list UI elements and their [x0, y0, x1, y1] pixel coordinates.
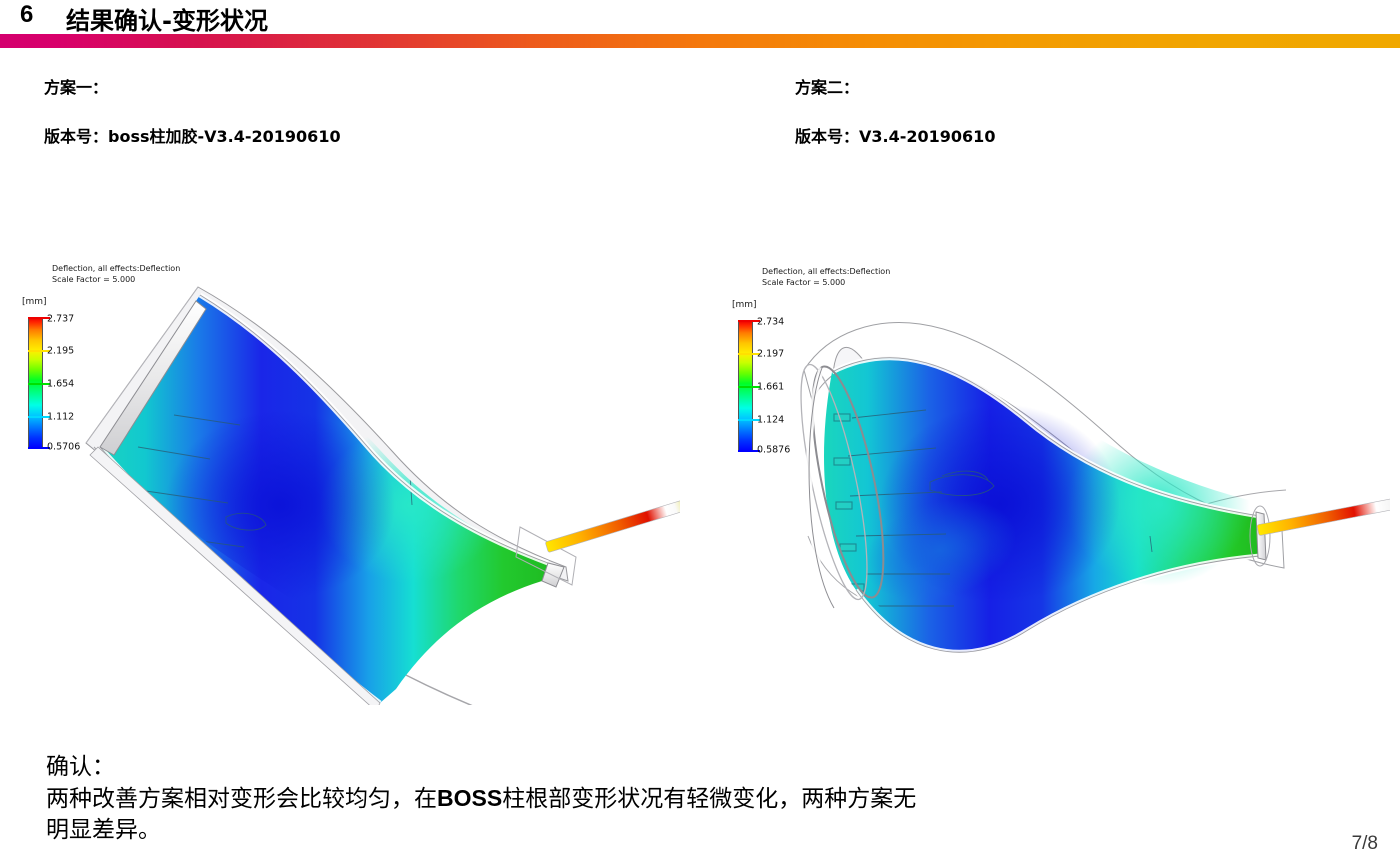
conclusion-line-1: 两种改善方案相对变形会比较均匀，在BOSS柱根部变形状况有轻微变化，两种方案无: [46, 783, 1346, 815]
header-gradient-rule: [0, 34, 1400, 48]
conclusion-line-1-part-a: 两种改善方案相对变形会比较均匀，在: [46, 786, 437, 812]
plan-two-tick-label-0: 2.734: [757, 317, 784, 328]
conclusion-line-2: 明显差异。: [46, 815, 1346, 846]
slide-header: 6 结果确认-变形状况: [0, 0, 1400, 34]
page-title: 结果确认-变形状况: [66, 1, 268, 36]
plan-one-version-label: 版本号：: [44, 127, 108, 146]
plan-one-legend-unit: [mm]: [22, 297, 47, 307]
plan-one-caption: 方案一： 版本号：boss柱加胶-V3.4-20190610: [44, 74, 341, 147]
conclusion-heading: 确认：: [46, 752, 1346, 783]
plan-two-caption: 方案二： 版本号：V3.4-20190610: [795, 74, 995, 147]
plan-two-tick-label-3: 1.124: [757, 415, 784, 426]
plan-one-deflection-plot: Deflection, all effects:Deflection Scale…: [20, 255, 680, 705]
plan-two-legend-unit: [mm]: [732, 300, 757, 310]
plan-two-tick-label-1: 2.197: [757, 349, 784, 360]
plan-two-version-label: 版本号：: [795, 127, 859, 146]
plan-two-model-render: [790, 268, 1390, 708]
plan-one-tick-label-3: 1.112: [47, 412, 74, 423]
conclusion-line-1-part-b: 柱根部变形状况有轻微变化，两种方案无: [502, 786, 916, 812]
conclusion-boss-keyword: BOSS: [437, 785, 502, 811]
plan-one-tick-label-1: 2.195: [47, 346, 74, 357]
plan-two-version-value: V3.4-20190610: [859, 127, 995, 146]
plan-two-deflection-plot: Deflection, all effects:Deflection Scale…: [730, 258, 1390, 708]
conclusion-text: 确认： 两种改善方案相对变形会比较均匀，在BOSS柱根部变形状况有轻微变化，两种…: [46, 752, 1346, 846]
plan-one-tick-label-4: 0.5706: [47, 442, 80, 453]
page-number: 7/8: [1352, 833, 1378, 855]
plan-one-model-render: [80, 265, 680, 705]
plan-two-tick-label-4: 0.5876: [757, 445, 790, 456]
plan-two-version: 版本号：V3.4-20190610: [795, 123, 995, 147]
slide-number: 6: [20, 1, 33, 29]
plan-two-tick-label-2: 1.661: [757, 382, 784, 393]
plan-two-title: 方案二：: [795, 74, 995, 98]
plan-one-version: 版本号：boss柱加胶-V3.4-20190610: [44, 123, 341, 147]
plan-one-tick-label-0: 2.737: [47, 314, 74, 325]
plan-one-tick-label-2: 1.654: [47, 379, 74, 390]
plan-one-title: 方案一：: [44, 74, 341, 98]
plan-one-version-value: boss柱加胶-V3.4-20190610: [108, 127, 341, 146]
